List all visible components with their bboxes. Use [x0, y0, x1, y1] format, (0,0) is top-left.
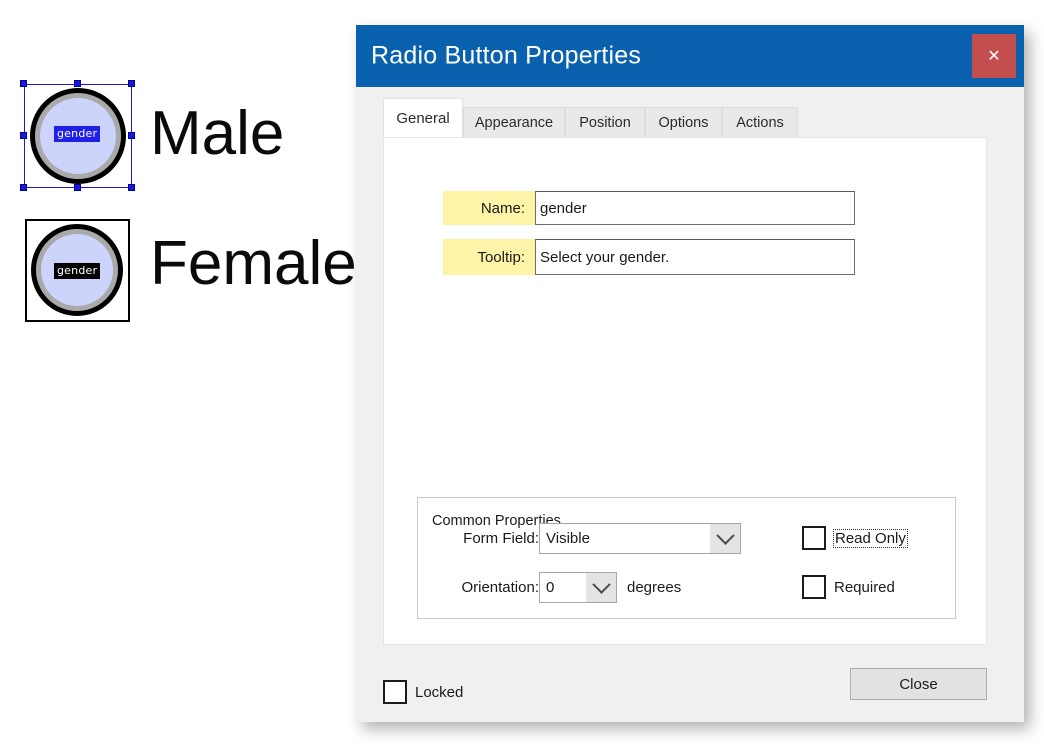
dialog-titlebar: Radio Button Properties ✕: [356, 25, 1024, 87]
tooltip-label: Tooltip:: [443, 239, 535, 275]
close-button[interactable]: Close: [850, 668, 987, 700]
tabstrip: General Appearance Position Options Acti…: [383, 105, 997, 137]
locked-checkbox[interactable]: [383, 680, 407, 704]
orientation-select[interactable]: 0: [539, 572, 617, 603]
form-field-select[interactable]: Visible: [539, 523, 741, 554]
required-row[interactable]: Required: [802, 575, 895, 599]
locked-label: Locked: [415, 684, 463, 701]
resize-handle-n[interactable]: [74, 80, 81, 87]
locked-row[interactable]: Locked: [383, 680, 463, 704]
tab-appearance[interactable]: Appearance: [463, 107, 565, 137]
chevron-down-icon: [586, 573, 616, 602]
tooltip-input[interactable]: [535, 239, 855, 275]
resize-handle-e[interactable]: [128, 132, 135, 139]
orientation-label: Orientation:: [421, 579, 539, 596]
radio-field-caption: gender: [54, 263, 100, 279]
orientation-value: 0: [540, 579, 586, 596]
tab-actions[interactable]: Actions: [722, 107, 798, 137]
resize-handle-s[interactable]: [74, 184, 81, 191]
radio-widget-female[interactable]: gender: [25, 219, 130, 322]
resize-handle-w[interactable]: [20, 132, 27, 139]
name-row: Name:: [443, 191, 855, 225]
resize-handle-ne[interactable]: [128, 80, 135, 87]
resize-handle-nw[interactable]: [20, 80, 27, 87]
radio-button-properties-dialog: Radio Button Properties ✕ General Appear…: [356, 25, 1024, 722]
orientation-suffix: degrees: [627, 579, 681, 596]
close-icon[interactable]: ✕: [972, 34, 1016, 78]
radio-option-label-male: Male: [150, 98, 284, 169]
name-label: Name:: [443, 191, 535, 225]
resize-handle-sw[interactable]: [20, 184, 27, 191]
form-field-value: Visible: [540, 530, 710, 547]
name-input[interactable]: [535, 191, 855, 225]
tooltip-row: Tooltip:: [443, 239, 855, 275]
radio-option-label-female: Female: [150, 228, 357, 299]
radio-field-caption: gender: [54, 126, 100, 142]
read-only-row[interactable]: Read Only: [802, 526, 907, 550]
dialog-title: Radio Button Properties: [371, 42, 641, 71]
tab-options[interactable]: Options: [645, 107, 722, 137]
form-field-label: Form Field:: [421, 530, 539, 547]
tab-position[interactable]: Position: [565, 107, 645, 137]
tab-general[interactable]: General: [383, 98, 463, 137]
resize-handle-se[interactable]: [128, 184, 135, 191]
read-only-checkbox[interactable]: [802, 526, 826, 550]
radio-widget-male[interactable]: gender: [24, 84, 132, 188]
chevron-down-icon: [710, 524, 740, 553]
required-label: Required: [834, 579, 895, 596]
required-checkbox[interactable]: [802, 575, 826, 599]
read-only-label: Read Only: [834, 530, 907, 547]
